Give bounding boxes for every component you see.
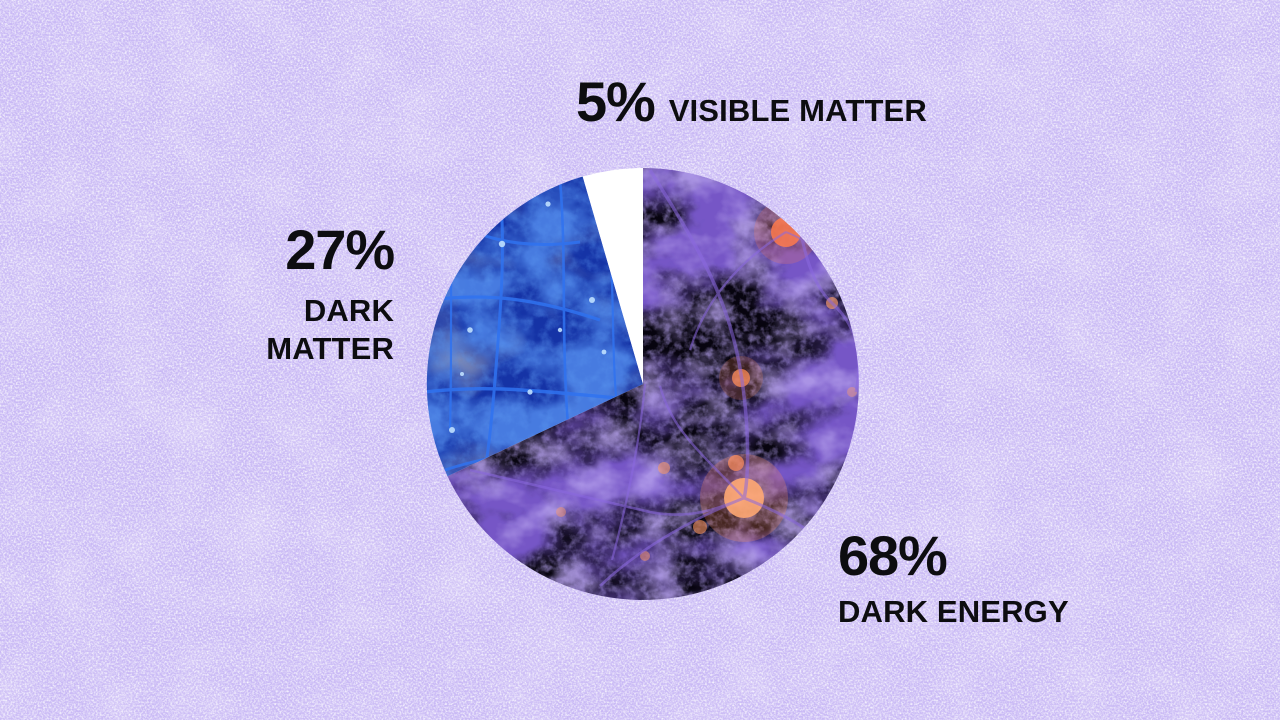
label-dark-energy: 68% DARK ENERGY [838,528,1069,627]
dark-energy-caption: DARK ENERGY [838,596,1069,627]
infographic-canvas: 5% VISIBLE MATTER 27% DARK MATTER 68% DA… [0,0,1280,720]
dark-matter-caption: DARK MATTER [122,292,394,368]
label-dark-matter: 27% DARK MATTER [122,222,394,368]
visible-matter-caption: VISIBLE MATTER [669,95,927,126]
label-visible-matter: 5% VISIBLE MATTER [576,74,927,130]
visible-matter-percent: 5% [576,74,655,130]
dark-matter-caption-line2: MATTER [266,331,394,366]
dark-matter-percent: 27% [122,222,394,278]
dark-energy-percent: 68% [838,528,1069,584]
dark-matter-caption-line1: DARK [304,293,394,328]
